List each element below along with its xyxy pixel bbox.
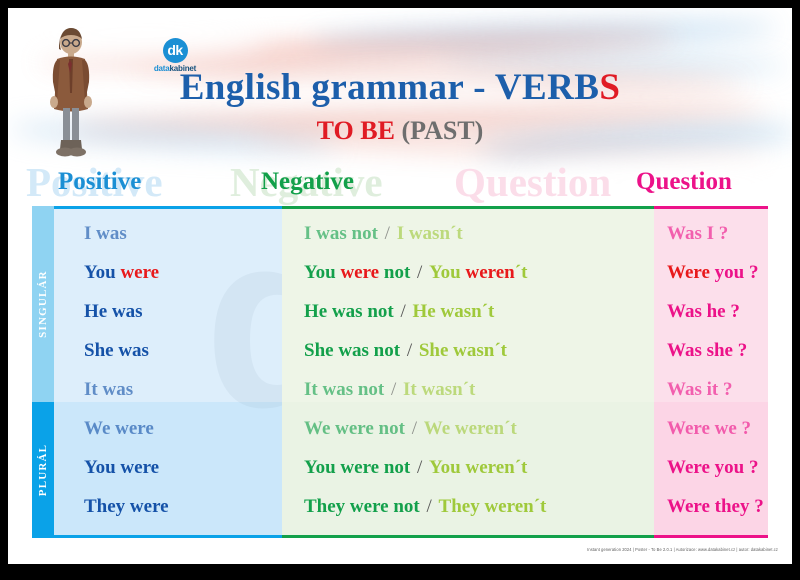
separator-slash: / [400,340,419,361]
rows-question: Was I ?Were you ?Was he ?Was she ?Was it… [654,209,768,526]
column-negative: I was not / I wasn´tYou were not / You w… [282,206,654,538]
poster-frame: dk datakabinet English grammar - VERBS T… [0,0,800,580]
text-run: You [84,262,120,283]
heading-question: Question [636,168,732,196]
text-run: He was [84,301,143,322]
cell-positive: They were [54,487,282,526]
fine-print: Instant generation 2024 | Poster - To Be… [587,547,778,553]
text-run: You [304,262,340,283]
text-run: ´t [515,262,528,283]
page-title: English grammar - VERBS [8,66,792,109]
group-band-plural: PLURÁL [32,402,54,538]
logo-mark-icon: dk [163,38,188,63]
text-run: She was not [304,340,400,361]
text-run: They were [84,496,169,517]
heading-negative: Negative [261,168,354,196]
group-label-singular: SINGULÁR [37,270,49,338]
text-run: You [429,262,465,283]
text-run: Were you ? [667,457,758,478]
text-run: It was not [304,379,384,400]
separator-slash: / [384,379,403,400]
text-run: He was not [304,301,394,322]
cell-question: Were we ? [654,409,768,448]
text-run: She wasn´t [419,340,507,361]
text-run: was [96,223,127,244]
number-spine: SINGULÁR PLURÁL [32,206,54,538]
column-positive: dk I wasYou wereHe wasShe wasIt wasWe we… [54,206,282,538]
text-run: We weren´t [424,418,517,439]
separator-slash: / [410,262,429,283]
text-run: You weren´t [429,457,527,478]
rows-positive: I wasYou wereHe wasShe wasIt wasWe wereY… [54,209,282,526]
cell-negative: You were not / You weren´t [282,448,654,487]
cell-positive: He was [54,292,282,331]
text-run: Were [667,262,710,283]
verb-conjugation-table: SINGULÁR PLURÁL dk I wasYou wereHe wasSh… [32,206,768,538]
column-question: Was I ?Were you ?Was he ?Was she ?Was it… [654,206,768,538]
cell-question: Were you ? [654,253,768,292]
cell-negative: She was not / She wasn´t [282,331,654,370]
text-run: Were we ? [667,418,751,439]
text-run: Was I ? [667,223,728,244]
text-run: She was [84,340,149,361]
text-run: You were not [304,457,410,478]
rows-negative: I was not / I wasn´tYou were not / You w… [282,209,654,526]
group-label-plural: PLURÁL [37,444,49,496]
text-run: It wasn´t [403,379,475,400]
separator-slash: / [405,418,424,439]
text-run: were [120,262,159,283]
cell-positive: I was [54,214,282,253]
cell-question: Was he ? [654,292,768,331]
cell-positive: We were [54,409,282,448]
heading-positive: Positive [58,168,141,196]
cell-question: Were you ? [654,448,768,487]
cell-negative: They were not / They weren´t [282,487,654,526]
text-run: Was she ? [667,340,747,361]
separator-slash: / [410,457,429,478]
cell-positive: You were [54,448,282,487]
cell-question: Was it ? [654,370,768,409]
text-run: We were [84,418,154,439]
text-run: I [84,223,96,244]
cell-negative: He was not / He wasn´t [282,292,654,331]
cell-positive: It was [54,370,282,409]
title-main-red: S [599,67,620,108]
separator-slash: / [394,301,413,322]
text-run: Was he ? [667,301,740,322]
text-run: you ? [710,262,759,283]
title-main-blue: English grammar - VERB [180,67,600,108]
text-run: were [340,262,379,283]
text-run: You were [84,457,159,478]
text-run: We were not [304,418,405,439]
cell-negative: You were not / You weren´t [282,253,654,292]
cell-question: Was she ? [654,331,768,370]
text-run: He wasn´t [413,301,495,322]
subtitle-tense: (PAST) [401,116,483,145]
text-run: Was it ? [667,379,732,400]
column-headings: Positive Negative Question [8,168,792,206]
cell-negative: We were not / We weren´t [282,409,654,448]
page-subtitle: TO BE (PAST) [8,116,792,146]
text-run: They weren´t [439,496,547,517]
cell-negative: It was not / It wasn´t [282,370,654,409]
separator-slash: / [420,496,439,517]
text-run: They were not [304,496,420,517]
cell-negative: I was not / I wasn´t [282,214,654,253]
group-band-singular: SINGULÁR [32,206,54,402]
text-run: It was [84,379,133,400]
cell-question: Were they ? [654,487,768,526]
cell-positive: You were [54,253,282,292]
text-run: I was not [304,223,378,244]
text-run: weren [466,262,515,283]
text-run: Were they ? [667,496,764,517]
text-run: I wasn´t [397,223,463,244]
subtitle-verb: TO BE [317,116,395,145]
text-run: not [379,262,410,283]
poster-page: dk datakabinet English grammar - VERBS T… [8,8,792,564]
cell-positive: She was [54,331,282,370]
separator-slash: / [378,223,397,244]
cell-question: Was I ? [654,214,768,253]
